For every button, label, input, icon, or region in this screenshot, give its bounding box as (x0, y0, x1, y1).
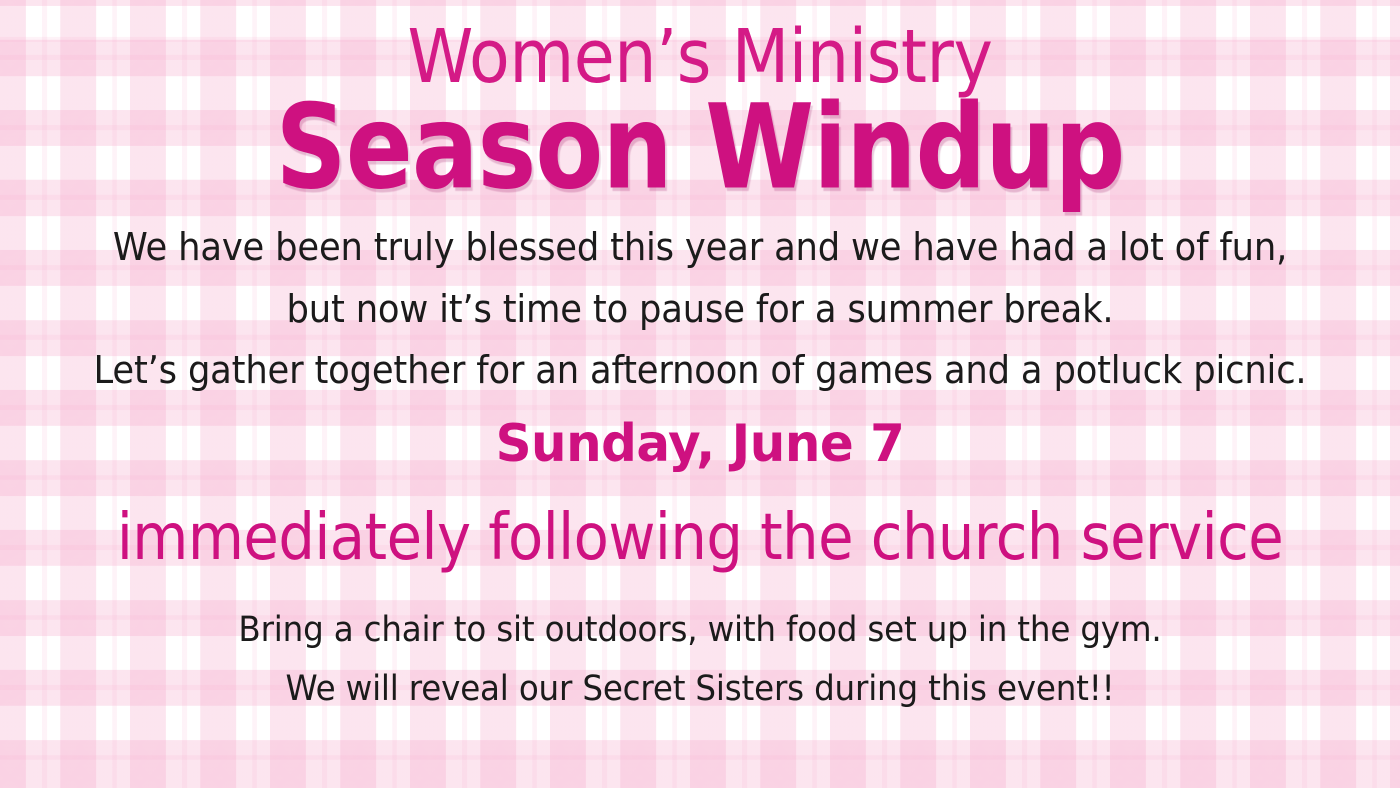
footer-line: Bring a chair to sit outdoors, with food… (49, 601, 1351, 660)
poster-canvas: Women’s Ministry Season Windup We have b… (0, 0, 1400, 788)
body-line: but now it’s time to pause for a summer … (49, 279, 1351, 341)
page-title: Season Windup (35, 87, 1365, 206)
footer-line: We will reveal our Secret Sisters during… (49, 660, 1351, 719)
body-line: We have been truly blessed this year and… (49, 217, 1351, 279)
footer-notes: Bring a chair to sit outdoors, with food… (0, 573, 1400, 719)
event-date: Sunday, June 7 (28, 402, 1372, 473)
event-time: immediately following the church service (70, 473, 1330, 573)
body-paragraph: We have been truly blessed this year and… (0, 199, 1400, 402)
body-line: Let’s gather together for an afternoon o… (49, 340, 1351, 402)
poster-content: Women’s Ministry Season Windup We have b… (0, 0, 1400, 788)
